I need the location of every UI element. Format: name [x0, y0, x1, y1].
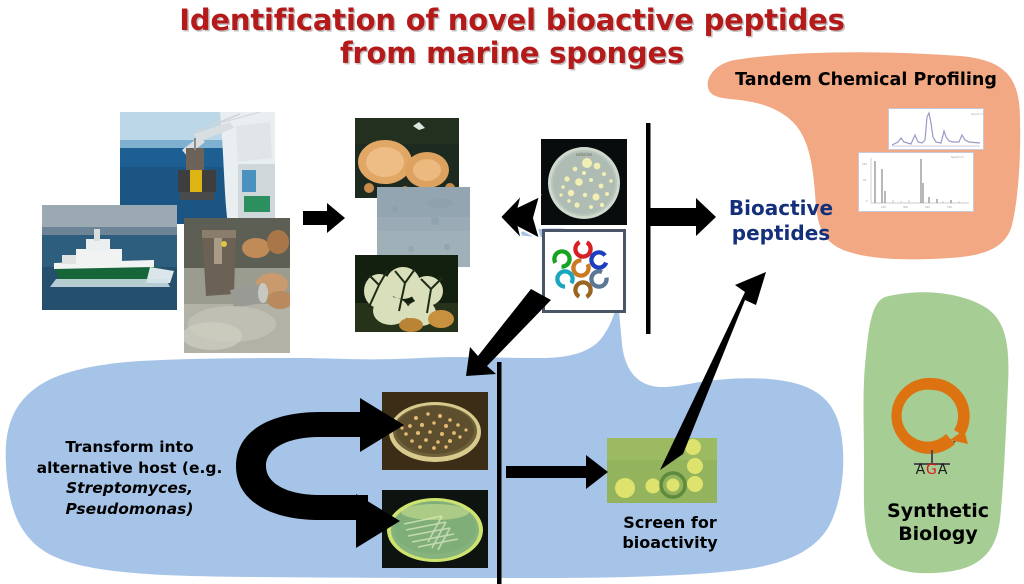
- vertical-divider-bottom: [497, 362, 502, 584]
- transform-line-2: alternative host (e.g.: [37, 459, 223, 477]
- synthetic-biology-line-2: Biology: [898, 523, 978, 545]
- collection-to-sponges-arrow: [303, 203, 345, 233]
- transform-to-plates-arrow: [236, 398, 404, 548]
- culture-to-bioactive-arrow: [648, 198, 716, 236]
- vertical-divider-top: [646, 123, 651, 334]
- figure-canvas: Identification of novel bioactive peptid…: [0, 0, 1024, 584]
- codon-label: AGA: [893, 462, 971, 478]
- bioactive-line-1: Bioactive: [729, 196, 833, 220]
- codon-middle: G: [926, 462, 938, 478]
- screen-to-bioactive-arrow: [660, 272, 766, 470]
- tandem-chemical-profiling-label: Tandem Chemical Profiling: [716, 70, 1016, 90]
- plasmid-construct-icon: [880, 368, 984, 472]
- screen-line-1: Screen for: [623, 513, 716, 532]
- transform-line-3: Streptomyces,: [66, 479, 193, 497]
- bioactive-line-2: peptides: [732, 221, 830, 245]
- synthetic-biology-line-1: Synthetic: [887, 500, 989, 522]
- sponges-to-branch-arrow: [500, 194, 540, 240]
- codon-left: A: [916, 462, 926, 478]
- screen-bioactivity-label: Screen for bioactivity: [600, 513, 740, 553]
- bioactive-peptides-label: Bioactive peptides: [716, 196, 846, 246]
- library-to-transform-arrow: [466, 289, 551, 376]
- codon-right: A: [938, 462, 949, 478]
- transform-line-1: Transform into: [65, 438, 193, 456]
- transform-line-4: Pseudomonas): [66, 500, 194, 518]
- plates-to-screen-arrow: [506, 455, 608, 489]
- screen-line-2: bioactivity: [622, 533, 717, 552]
- transform-host-label: Transform into alternative host (e.g. St…: [22, 437, 237, 519]
- synthetic-biology-label: Synthetic Biology: [868, 500, 1008, 546]
